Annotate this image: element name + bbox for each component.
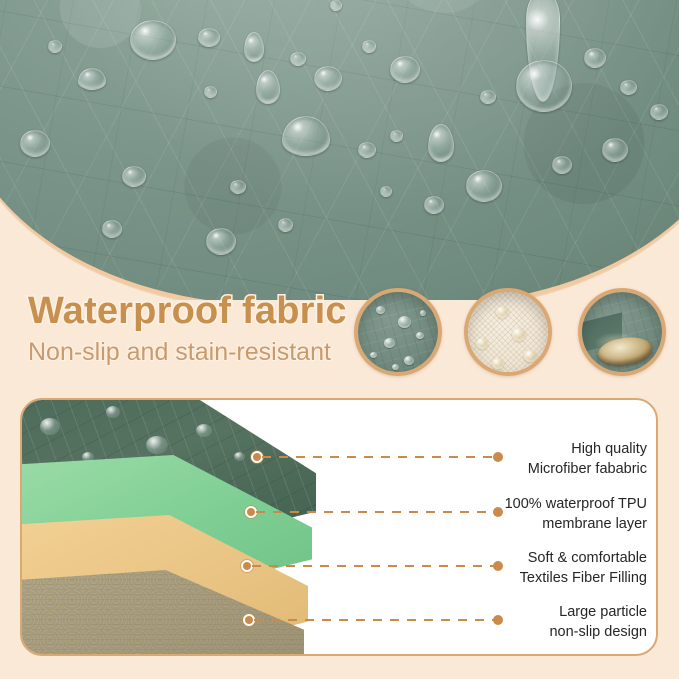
fabric-sheen xyxy=(0,0,679,300)
callout-label-non-slip: Large particle non-slip design xyxy=(549,603,647,642)
callout-line: High quality xyxy=(528,440,647,460)
inset-shadow xyxy=(582,292,662,372)
layer-non-slip-bottom-layer xyxy=(20,570,304,656)
page-subtitle: Non-slip and stain-resistant xyxy=(28,338,347,367)
water-droplet xyxy=(362,40,376,53)
connector-dash xyxy=(254,619,498,621)
water-droplet xyxy=(480,90,496,104)
water-droplet xyxy=(198,28,220,47)
water-droplet xyxy=(424,196,444,214)
water-droplet xyxy=(314,66,342,91)
callout-label-tpu: 100% waterproof TPU membrane layer xyxy=(505,495,647,534)
feature-circle-cream-fabric xyxy=(464,288,552,376)
water-droplet xyxy=(78,68,106,90)
callout-line: 100% waterproof TPU xyxy=(505,495,647,515)
connector-dash xyxy=(252,565,498,567)
callout-line: Textiles Fiber Filling xyxy=(520,569,647,589)
connector-endpoint-4 xyxy=(493,615,503,625)
callout-line: Soft & comfortable xyxy=(520,549,647,569)
water-droplet xyxy=(130,20,176,60)
water-droplet xyxy=(552,156,572,174)
water-droplet xyxy=(390,130,403,142)
water-droplet xyxy=(584,48,606,68)
water-droplet xyxy=(466,170,502,202)
connector-line-2 xyxy=(256,511,498,513)
water-droplet xyxy=(244,32,264,62)
callout-label-microfiber: High quality Microfiber fababric xyxy=(528,440,647,479)
water-droplet xyxy=(380,186,392,197)
water-droplet xyxy=(206,228,236,255)
connector-line-3 xyxy=(252,565,498,567)
water-droplet xyxy=(390,56,420,83)
connector-line-4 xyxy=(254,619,498,621)
water-droplet xyxy=(516,60,572,112)
callout-line: non-slip design xyxy=(549,623,647,643)
water-droplet xyxy=(278,218,293,232)
water-droplet xyxy=(602,138,628,162)
connector-endpoint-2 xyxy=(493,507,503,517)
page-title: Waterproof fabric xyxy=(28,292,347,332)
water-droplet xyxy=(20,130,50,157)
callout-label-fiber-filling: Soft & comfortable Textiles Fiber Fillin… xyxy=(520,549,647,588)
headline-block: Waterproof fabric Non-slip and stain-res… xyxy=(28,292,347,367)
water-droplet xyxy=(330,0,342,11)
water-droplet xyxy=(48,40,62,53)
feature-circle-stain-resistance xyxy=(578,288,666,376)
water-droplet xyxy=(122,166,146,187)
water-droplet xyxy=(204,86,217,98)
water-droplet xyxy=(230,180,246,194)
hero-image-container xyxy=(0,0,679,300)
connector-endpoint-1 xyxy=(493,452,503,462)
water-droplet xyxy=(358,142,376,158)
callout-line: membrane layer xyxy=(505,515,647,535)
product-infographic: Waterproof fabric Non-slip and stain-res… xyxy=(0,0,679,679)
layer-sheet xyxy=(20,570,304,656)
inset-shadow xyxy=(468,292,548,372)
connector-line-1 xyxy=(262,456,498,458)
callout-line: Large particle xyxy=(549,603,647,623)
feature-circle-water-beading xyxy=(354,288,442,376)
connector-dash xyxy=(262,456,498,458)
connector-endpoint-3 xyxy=(493,561,503,571)
water-droplet xyxy=(102,220,122,238)
connector-dash xyxy=(256,511,498,513)
inset-shadow xyxy=(358,292,438,372)
callout-line: Microfiber fababric xyxy=(528,460,647,480)
water-droplet xyxy=(290,52,306,66)
water-droplet xyxy=(256,70,280,104)
water-droplet xyxy=(650,104,668,120)
waterproof-fabric-photo xyxy=(0,0,679,300)
water-droplet xyxy=(620,80,637,95)
